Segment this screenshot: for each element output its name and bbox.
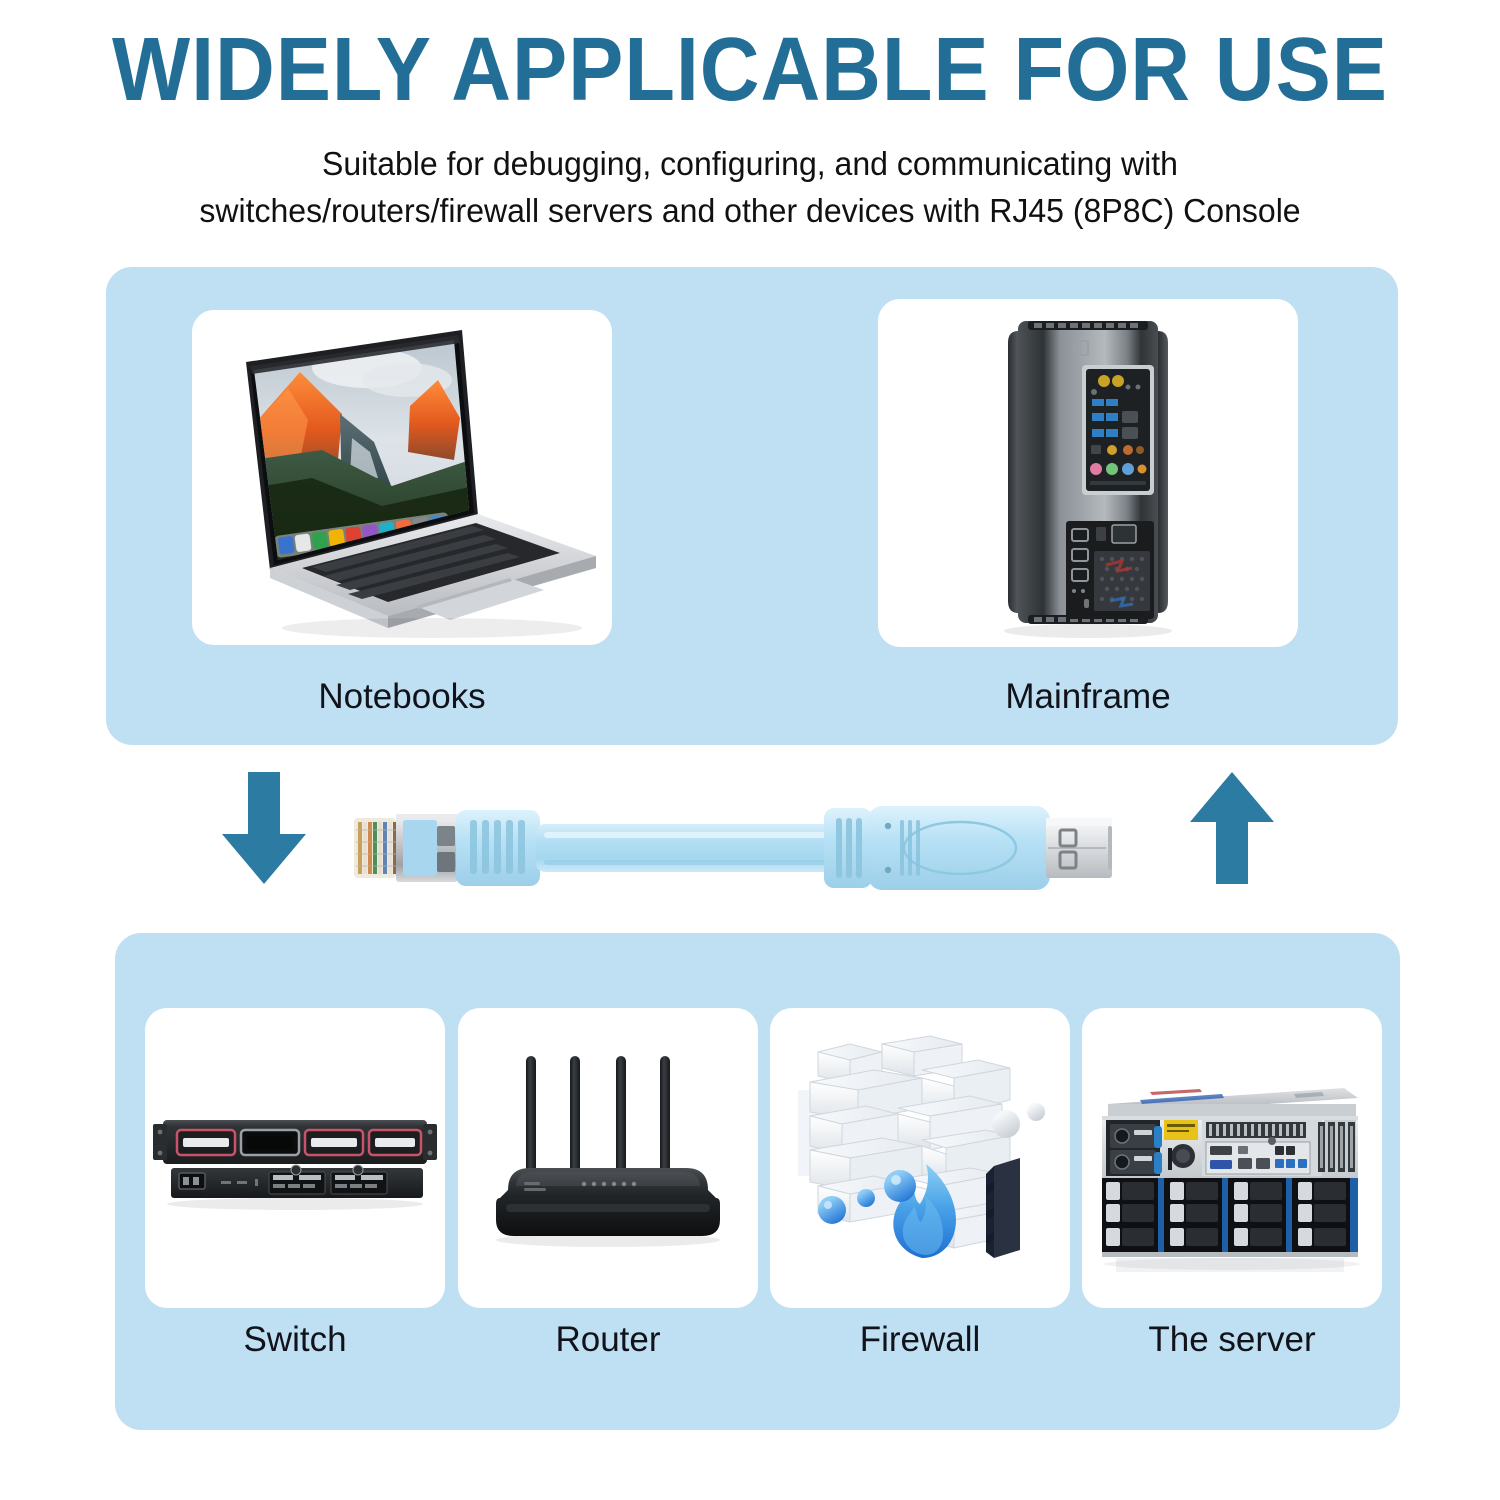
card-label-switch: Switch [145,1320,445,1360]
network-switch-icon [145,1008,445,1308]
card-label-server: The server [1082,1320,1382,1360]
wifi-router-icon [458,1008,758,1308]
page-title: WIDELY APPLICABLE FOR USE [60,22,1440,118]
arrow-up-icon [1186,772,1278,884]
card-label-firewall: Firewall [770,1320,1070,1360]
subtitle-line-1: Suitable for debugging, configuring, and… [90,140,1409,187]
page-subtitle: Suitable for debugging, configuring, and… [90,140,1409,234]
rack-server-icon [1082,1008,1382,1308]
card-label-notebooks: Notebooks [192,677,612,717]
desktop-tower-icon [878,299,1298,647]
card-label-mainframe: Mainframe [878,677,1298,717]
card-mainframe[interactable] [878,299,1298,647]
infographic-page: WIDELY APPLICABLE FOR USE Suitable for d… [0,0,1500,1500]
laptop-icon [192,310,612,645]
subtitle-line-2: switches/routers/firewall servers and ot… [90,187,1409,234]
card-notebooks[interactable] [192,310,612,645]
card-firewall[interactable] [770,1008,1070,1308]
card-router[interactable] [458,1008,758,1308]
card-switch[interactable] [145,1008,445,1308]
rj45-connector [354,814,458,882]
card-server[interactable] [1082,1008,1382,1308]
card-label-router: Router [458,1320,758,1360]
firewall-brick-wall-icon [770,1008,1070,1308]
rj45-to-usb-console-cable [348,798,1118,898]
usb-a-connector [1046,818,1112,878]
arrow-down-icon [218,772,310,884]
